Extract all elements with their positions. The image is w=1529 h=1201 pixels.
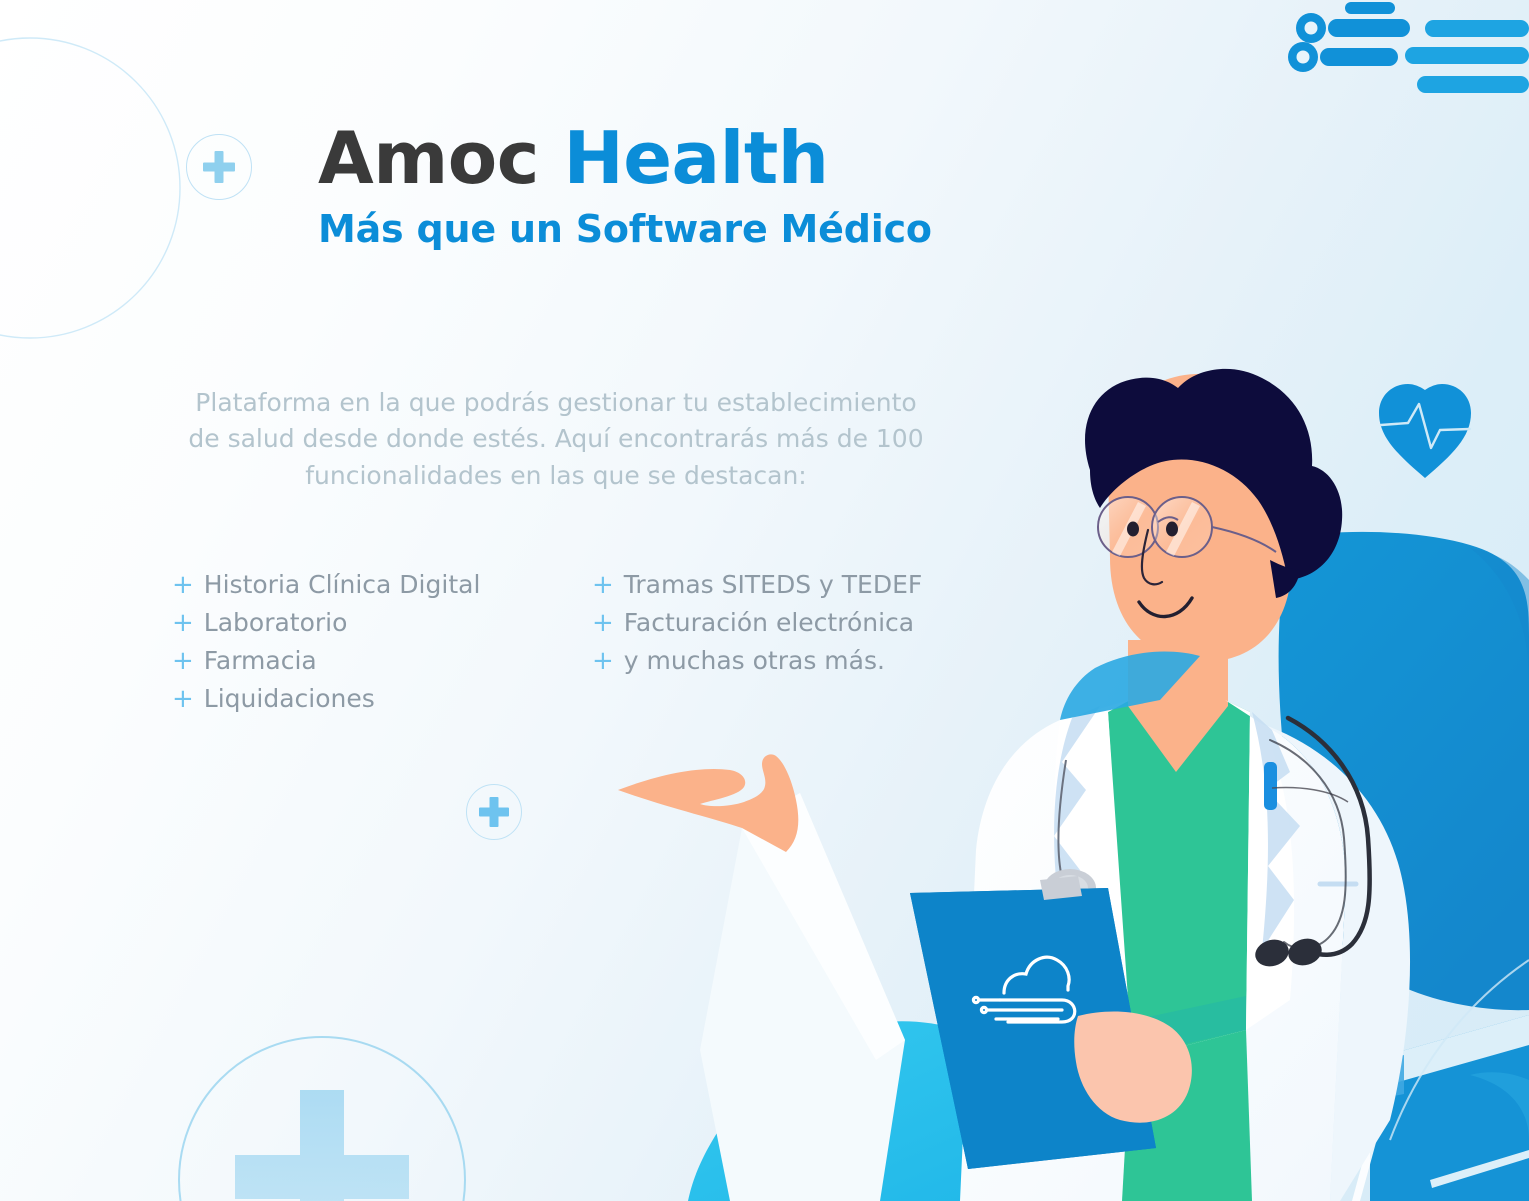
list-item-label: Facturación electrónica — [624, 604, 914, 642]
hero-description: Plataforma en la que podrás gestionar tu… — [176, 385, 936, 494]
feature-column-left: + Historia Clínica Digital + Laboratorio… — [172, 566, 592, 718]
plus-bullet-icon: + — [592, 604, 614, 642]
hero-banner: Amoc Health Más que un Software Médico P… — [0, 0, 1529, 1201]
plus-bullet-icon: + — [592, 642, 614, 680]
list-item: + Historia Clínica Digital — [172, 566, 592, 604]
eye-right — [1166, 522, 1178, 537]
brand-name-primary: Amoc — [318, 116, 539, 200]
coat-lapel-right — [1225, 700, 1294, 1030]
coat-lapel-left — [1055, 700, 1132, 1080]
list-item-label: Historia Clínica Digital — [204, 566, 481, 604]
plus-bullet-icon: + — [592, 566, 614, 604]
list-item-label: Liquidaciones — [204, 680, 375, 718]
lab-coat — [960, 700, 1346, 1201]
list-item: + Liquidaciones — [172, 680, 592, 718]
plus-bullet-icon: + — [172, 604, 194, 642]
pen-icon — [1264, 762, 1277, 810]
bg-panel-bottomright — [1370, 1015, 1529, 1201]
feature-lists: + Historia Clínica Digital + Laboratorio… — [172, 566, 1012, 718]
brand-lockup: Amoc Health Más que un Software Médico — [186, 128, 932, 250]
brand-tagline: Más que un Software Médico — [318, 210, 932, 250]
plus-bullet-icon: + — [172, 566, 194, 604]
mouth — [1139, 598, 1192, 617]
plus-bullet-icon: + — [172, 642, 194, 680]
scrubs — [1108, 700, 1250, 1060]
face — [1108, 374, 1292, 662]
list-item: + Facturación electrónica — [592, 604, 1012, 642]
right-hand — [1074, 1012, 1192, 1123]
circuit-lines-icon — [1288, 2, 1529, 93]
list-item-label: Farmacia — [204, 642, 317, 680]
bg-blob-right — [1279, 532, 1529, 1010]
list-item: + y muchas otras más. — [592, 642, 1012, 680]
cloud-icon — [973, 957, 1074, 1022]
glasses — [1098, 497, 1276, 557]
plus-bullet-icon: + — [172, 680, 194, 718]
plus-icon — [186, 134, 252, 200]
feature-column-right: + Tramas SITEDS y TEDEF + Facturación el… — [592, 566, 1012, 718]
list-item-label: y muchas otras más. — [624, 642, 885, 680]
neck — [1128, 640, 1228, 772]
list-item-label: Tramas SITEDS y TEDEF — [624, 566, 922, 604]
plus-circle-icon — [466, 784, 522, 840]
eye-left — [1127, 522, 1139, 537]
brand-name-accent: Health — [563, 116, 828, 200]
hero-content: Amoc Health Más que un Software Médico P… — [0, 0, 980, 1201]
page-title: Amoc Health — [318, 122, 932, 194]
list-item: + Farmacia — [172, 642, 592, 680]
list-item-label: Laboratorio — [204, 604, 348, 642]
list-item: + Tramas SITEDS y TEDEF — [592, 566, 1012, 604]
stethoscope — [1288, 718, 1370, 955]
heart-pulse-icon — [1379, 384, 1471, 478]
hair — [1085, 369, 1342, 580]
list-item: + Laboratorio — [172, 604, 592, 642]
